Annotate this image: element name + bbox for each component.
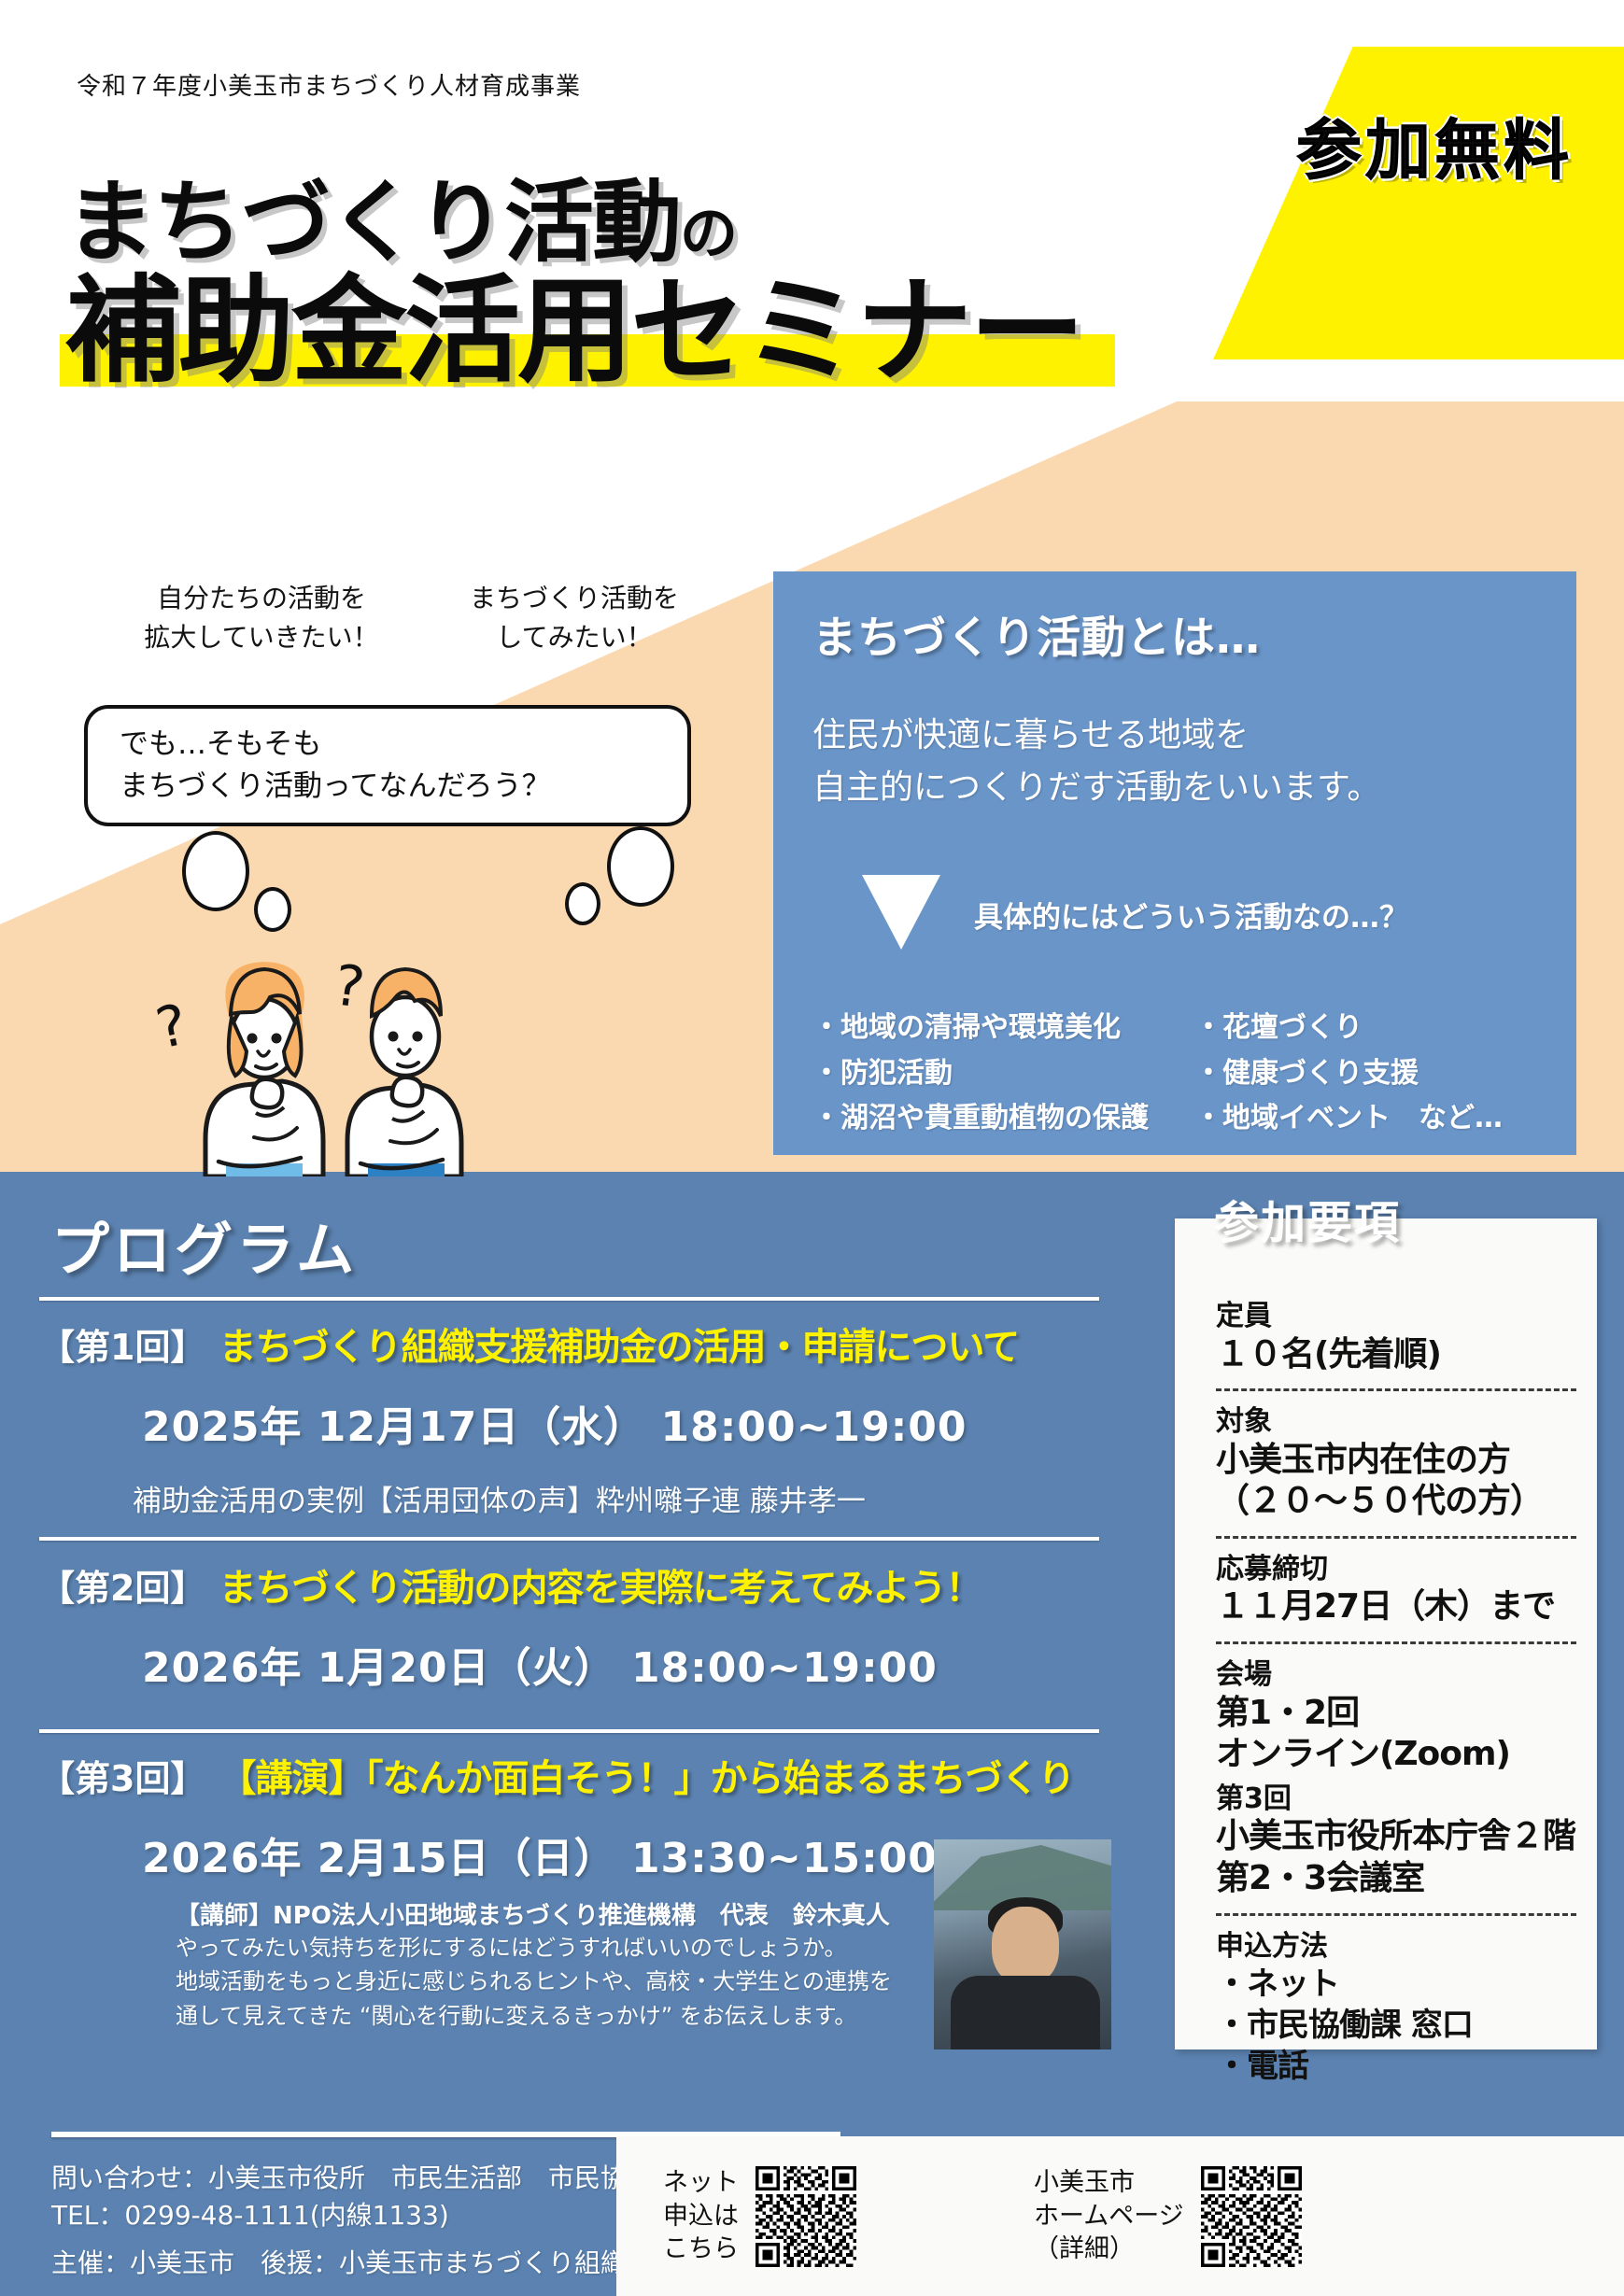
title-line-one: まちづくり活動の (65, 177, 1186, 267)
detail-value: １０名(先着順) (1216, 1334, 1576, 1376)
detail-label: 対象 (1216, 1404, 1576, 1440)
activity-example: 防犯活動 (812, 1051, 1168, 1097)
detail-capacity: 定員 １０名(先着順) (1216, 1293, 1576, 1388)
program-divider (39, 1297, 1099, 1301)
free-participation-badge: 参加無料 (1296, 98, 1573, 192)
qr-code-city-homepage-icon[interactable] (1201, 2166, 1302, 2267)
participation-details-heading: 参加要項 (1214, 1186, 1401, 1251)
activity-example: 地域の清掃や環境美化 (812, 1006, 1168, 1051)
lecturer-description: やってみたい気持ちを形にするにはどうすればいいのでしょうか。 地域活動をもっと身… (176, 1931, 913, 2033)
participation-details-card: 定員 １０名(先着順) 対象 小美玉市内在住の方 （２０～５０代の方） 応募締切… (1175, 1218, 1597, 2049)
detail-label: 会場 (1216, 1657, 1576, 1693)
activity-examples-right-column: 花壇づくり 健康づくり支援 地域イベント など… (1194, 1006, 1550, 1142)
program-session: 【第2回】 まちづくり活動の内容を実際に考えてみよう！ 2026年 1月20日（… (39, 1557, 1141, 1694)
session-datetime: 2025年 12月17日（水） 18:00~19:00 (142, 1393, 1141, 1453)
qr-caption-online: ネット 申込は こちら (663, 2166, 739, 2266)
detail-target: 対象 小美玉市内在住の方 （２０～５０代の方） (1216, 1388, 1576, 1536)
detail-value: １１月27日（木）まで (1216, 1586, 1576, 1628)
bubble-tail-dot-small-right (565, 882, 600, 925)
activity-example: 湖沼や貴重動植物の保護 (812, 1096, 1168, 1142)
lecturer-credit: 【講師】NPO法人小田地域まちづくり推進機構 代表 鈴木真人 (176, 1896, 890, 1931)
detail-label: 応募締切 (1216, 1552, 1576, 1587)
session-header: 【第1回】 まちづくり組織支援補助金の活用・申請について (39, 1317, 1141, 1371)
photo-face-shape (992, 1907, 1059, 1985)
photo-body-shape (951, 1976, 1100, 2049)
program-divider (39, 1537, 1099, 1541)
footer-host-info: 主催：小美玉市 後援：小美玉市まちづくり組織連絡会 (51, 2243, 705, 2280)
qr-code-panel: ネット 申込は こちら (616, 2136, 1624, 2296)
participation-details-list: 定員 １０名(先着順) 対象 小美玉市内在住の方 （２０～５０代の方） 応募締切… (1216, 1293, 1576, 2101)
program-session: 【第1回】 まちづくり組織支援補助金の活用・申請について 2025年 12月17… (39, 1317, 1141, 1519)
detail-value: 小美玉市内在住の方 （２０～５０代の方） (1216, 1440, 1576, 1523)
session-topic: まちづくり活動の内容を実際に考えてみよう！ (219, 1557, 981, 1612)
title-line-two: 補助金活用セミナー (65, 271, 1186, 392)
qr-caption-homepage: 小美玉市 ホームページ （詳細） (1034, 2166, 1184, 2266)
info-box-title: まちづくり活動とは… (812, 601, 1261, 666)
man-figure (347, 969, 461, 1176)
detail-bullets: ・ネット ・市民協働課 窓口 ・電話 (1216, 1964, 1576, 2088)
title-line-one-main: まちづくり活動 (65, 170, 680, 275)
activity-examples-left-column: 地域の清掃や環境美化 防犯活動 湖沼や貴重動植物の保護 (812, 1006, 1168, 1142)
qr-group-city-homepage[interactable]: 小美玉市 ホームページ （詳細） (1034, 2166, 1302, 2267)
activity-example: 地域イベント など… (1194, 1096, 1550, 1142)
session-header: 【第2回】 まちづくり活動の内容を実際に考えてみよう！ (39, 1557, 1141, 1612)
detail-deadline: 応募締切 １１月27日（木）まで (1216, 1536, 1576, 1641)
session-number: 【第1回】 (39, 1318, 205, 1370)
down-triangle-icon (862, 875, 940, 950)
thought-text-left: 自分たちの活動を 拡大していきたい！ (112, 579, 411, 657)
session-topic: 【講演】「なんか面白そう！」から始まるまちづくり (219, 1748, 1074, 1802)
activity-example: 花壇づくり (1194, 1006, 1550, 1051)
thinking-people-illustration: ? ? (140, 896, 532, 1176)
bubble-tail-dot-large-right (607, 826, 674, 907)
session-header: 【第3回】 【講演】「なんか面白そう！」から始まるまちづくり (39, 1748, 1141, 1802)
detail-subvalue: 小美玉市役所本庁舎２階 第2・3会議室 (1216, 1816, 1576, 1899)
detail-label: 定員 (1216, 1299, 1576, 1334)
program-divider (39, 1729, 1099, 1733)
speaker-photo (934, 1839, 1111, 2049)
qr-group-online-application[interactable]: ネット 申込は こちら (663, 2166, 856, 2267)
session-number: 【第2回】 (39, 1559, 205, 1611)
activity-example: 健康づくり支援 (1194, 1051, 1550, 1097)
session-topic: まちづくり組織支援補助金の活用・申請について (219, 1317, 1019, 1371)
session-note: 補助金活用の実例【活用団体の声】粋州囃子連 藤井孝一 (133, 1477, 1141, 1519)
session-datetime: 2026年 1月20日（火） 18:00~19:00 (142, 1634, 1141, 1694)
detail-sublabel: 第3回 (1216, 1782, 1576, 1817)
detail-value: 第1・2回 オンライン(Zoom) (1216, 1693, 1576, 1776)
woman-figure (205, 962, 323, 1176)
title-line-one-suffix: の (680, 199, 736, 267)
session-number: 【第3回】 (39, 1750, 205, 1801)
detail-label: 申込方法 (1216, 1929, 1576, 1965)
program-heading: プログラム (51, 1203, 358, 1287)
info-box-body: 住民が快適に暮らせる地域を 自主的につくりだす活動をいいます。 (812, 710, 1380, 814)
detail-venue: 会場 第1・2回 オンライン(Zoom) 第3回 小美玉市役所本庁舎２階 第2・… (1216, 1641, 1576, 1913)
fiscal-year-kicker: 令和７年度小美玉市まちづくり人材育成事業 (77, 67, 581, 102)
info-box-question: 具体的にはどういう活動なの…？ (974, 894, 1408, 936)
speech-bubble: でも…そもそも まちづくり活動ってなんだろう？ (84, 705, 691, 826)
main-title: まちづくり活動の 補助金活用セミナー (65, 177, 1186, 397)
detail-apply-method: 申込方法 ・ネット ・市民協働課 窓口 ・電話 (1216, 1913, 1576, 2101)
thought-text-right: まちづくり活動を してみたい！ (439, 579, 710, 657)
qr-code-online-application-icon[interactable] (756, 2166, 856, 2267)
what-is-machizukuri-box: まちづくり活動とは… 住民が快適に暮らせる地域を 自主的につくりだす活動をいいま… (773, 571, 1576, 1155)
title-line-two-holder: 補助金活用セミナー (65, 271, 1186, 397)
speech-bubble-text: でも…そもそも まちづくり活動ってなんだろう？ (120, 724, 551, 808)
activity-example-lists: 地域の清掃や環境美化 防犯活動 湖沼や貴重動植物の保護 花壇づくり 健康づくり支… (812, 1006, 1550, 1142)
